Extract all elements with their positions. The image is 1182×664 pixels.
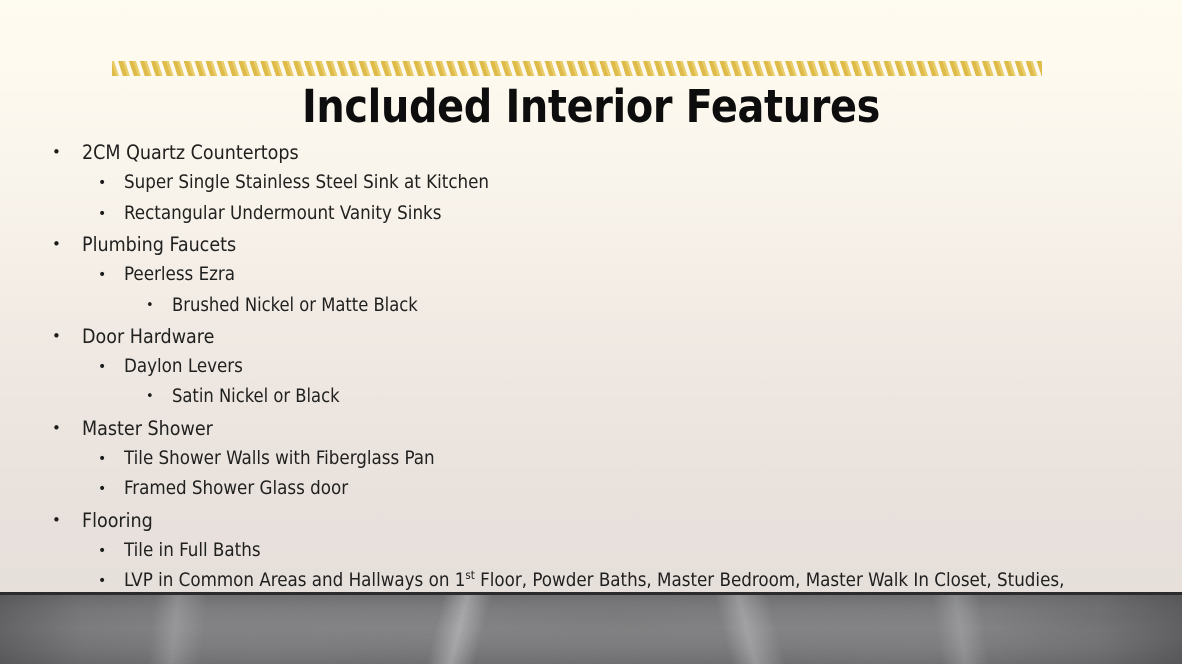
- bullet-icon: •: [52, 321, 61, 352]
- list-item-text-before-ordinal: LVP in Common Areas and Hallways on 1: [124, 570, 465, 591]
- bullet-icon: •: [98, 199, 106, 229]
- list-item-label: Super Single Stainless Steel Sink at Kit…: [124, 168, 1182, 198]
- bullet-icon: •: [52, 413, 61, 444]
- list-item-label: 2CM Quartz Countertops: [82, 137, 1182, 168]
- bullet-icon: •: [52, 137, 61, 168]
- bullet-icon: •: [98, 474, 106, 504]
- list-item: • Door Hardware: [0, 321, 1182, 352]
- stone-texture: [0, 595, 1182, 664]
- list-item-label: Framed Shower Glass door: [124, 474, 1182, 504]
- list-item: • Tile Shower Walls with Fiberglass Pan: [0, 444, 1182, 474]
- bullet-icon: •: [146, 291, 154, 321]
- ordinal-suffix: st: [465, 568, 474, 582]
- bullet-icon: •: [98, 444, 106, 474]
- list-item-label: Tile Shower Walls with Fiberglass Pan: [124, 444, 1182, 474]
- page-title: Included Interior Features: [68, 82, 1114, 131]
- list-item: • Brushed Nickel or Matte Black: [0, 291, 1182, 321]
- list-item-label: Flooring: [82, 505, 1182, 536]
- list-item: • Flooring: [0, 505, 1182, 536]
- list-item-label: Brushed Nickel or Matte Black: [172, 291, 1182, 321]
- list-item: • Daylon Levers: [0, 352, 1182, 382]
- list-item: • Plumbing Faucets: [0, 229, 1182, 260]
- bullet-icon: •: [52, 505, 61, 536]
- list-item: • Satin Nickel or Black: [0, 382, 1182, 412]
- list-item: • Framed Shower Glass door: [0, 474, 1182, 504]
- list-item-label: Satin Nickel or Black: [172, 382, 1182, 412]
- slide: Included Interior Features • 2CM Quartz …: [0, 0, 1182, 664]
- list-item-label: Tile in Full Baths: [124, 536, 1182, 566]
- list-item-label: Door Hardware: [82, 321, 1182, 352]
- list-item-label: Rectangular Undermount Vanity Sinks: [124, 199, 1182, 229]
- bullet-icon: •: [98, 352, 106, 382]
- list-item: • Master Shower: [0, 413, 1182, 444]
- gold-hatch-accent-bar: [112, 61, 1042, 76]
- bullet-icon: •: [98, 260, 106, 290]
- stone-footer-image: [0, 592, 1182, 664]
- bullet-icon: •: [146, 382, 154, 412]
- list-item: • Super Single Stainless Steel Sink at K…: [0, 168, 1182, 198]
- bullet-icon: •: [52, 229, 61, 260]
- list-item-label: Plumbing Faucets: [82, 229, 1182, 260]
- bullet-icon: •: [98, 168, 106, 198]
- list-item: • Peerless Ezra: [0, 260, 1182, 290]
- list-item: • 2CM Quartz Countertops: [0, 137, 1182, 168]
- list-item: • Rectangular Undermount Vanity Sinks: [0, 199, 1182, 229]
- bullet-icon: •: [98, 536, 106, 566]
- list-item-label: Peerless Ezra: [124, 260, 1182, 290]
- list-item: • Tile in Full Baths: [0, 536, 1182, 566]
- list-item-label: Daylon Levers: [124, 352, 1182, 382]
- list-item-label: Master Shower: [82, 413, 1182, 444]
- bullet-list: • 2CM Quartz Countertops • Super Single …: [0, 137, 1182, 657]
- stone-top-edge-line: [0, 592, 1182, 595]
